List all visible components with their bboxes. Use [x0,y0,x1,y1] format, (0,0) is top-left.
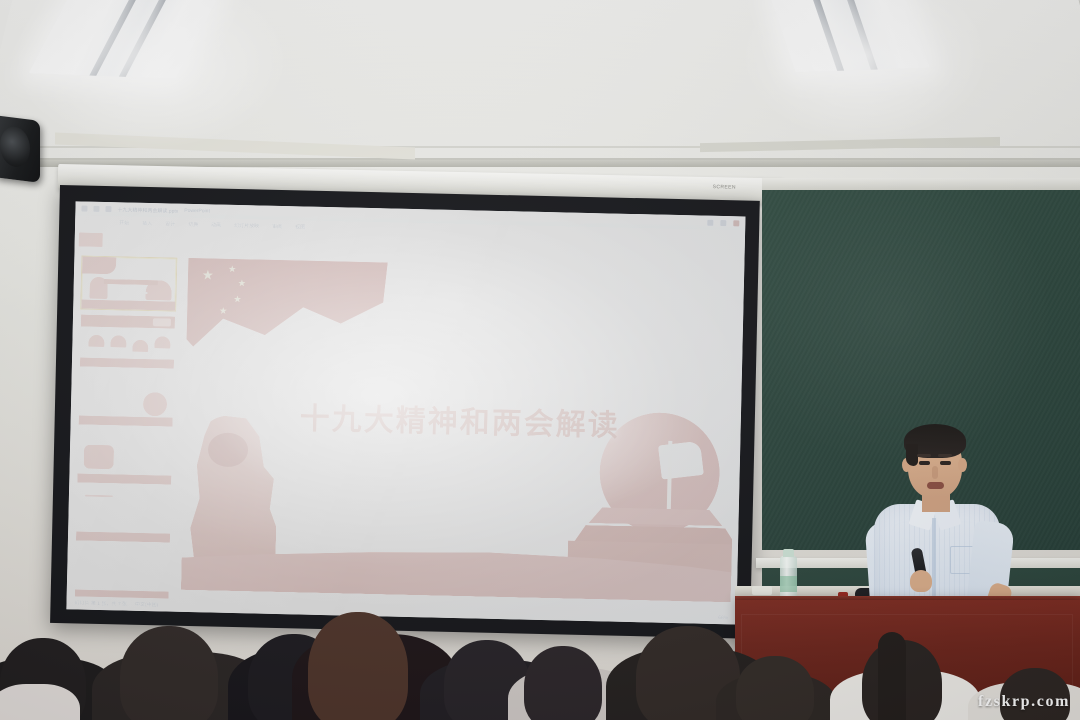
presenter-nose [932,466,938,479]
ribbon-tab-2[interactable]: 设计 [165,220,175,227]
slide-thumbnail-1[interactable]: 1 [80,256,177,312]
ceiling-light-right [770,0,930,72]
ribbon-tab-1[interactable]: 插入 [142,220,152,227]
ribbon-tab-5[interactable]: 幻灯片放映 [234,222,259,230]
wall-speaker-icon [0,115,40,183]
presenter-eye-right [940,461,951,465]
ribbon-tab-7[interactable]: 视图 [295,223,305,230]
presenter-eyebrow-left [917,454,931,457]
screen-housing-label: SCREEN [713,184,736,190]
close-icon[interactable] [733,220,739,226]
audience [0,560,1080,720]
watermark: fzskrp.com [978,693,1070,711]
ribbon-tab-0[interactable]: 开始 [119,219,129,226]
slide-thumbnail-5[interactable]: 5 [75,487,172,543]
ribbon-tab-6[interactable]: 审阅 [272,223,282,230]
presenter-mouth [927,482,944,489]
app-name: PowerPoint [184,208,210,215]
ribbon-tab-3[interactable]: 切换 [188,221,198,228]
presenter-eyebrow-right [938,454,952,457]
redo-icon[interactable] [105,206,111,212]
presenter-eye-left [919,461,930,465]
audience-head-2 [120,626,218,720]
flag-star-4: ★ [219,307,227,316]
flag-star-3: ★ [233,295,241,304]
flag-star-1: ★ [228,265,236,274]
slide-thumbnail-4[interactable]: 4 [76,429,173,485]
audience-head-4 [308,612,408,720]
flag-star-2: ★ [238,279,246,288]
ribbon-tab-4[interactable]: 动画 [211,221,221,228]
document-title: 十九大精神和两会解读.pptx [117,206,178,214]
chalkboard-top-frame [762,178,1080,190]
classroom-photo: SCREEN 十九大精神和两会解读.pptx PowerPoint [0,0,1080,720]
audience-head-6 [524,646,602,720]
minimize-icon[interactable] [707,220,713,226]
audience-ponytail-9 [878,632,906,720]
slide-canvas[interactable]: ★ ★ ★ ★ ★ 十九大 [181,258,738,602]
presenter-ear-right [958,458,967,472]
audience-head-8 [736,656,814,720]
restore-icon[interactable] [720,220,726,226]
slide-thumbnail-3[interactable]: 3 [78,371,175,427]
flag-star-large: ★ [202,268,214,281]
slide-thumbnail-2[interactable]: 2 [79,313,176,369]
presenter-hair [904,424,966,458]
save-icon[interactable] [81,205,87,211]
slide-thumbnail-panel[interactable]: 1 2 [71,253,183,599]
undo-icon[interactable] [93,206,99,212]
audience-shoulders-11 [0,684,80,720]
